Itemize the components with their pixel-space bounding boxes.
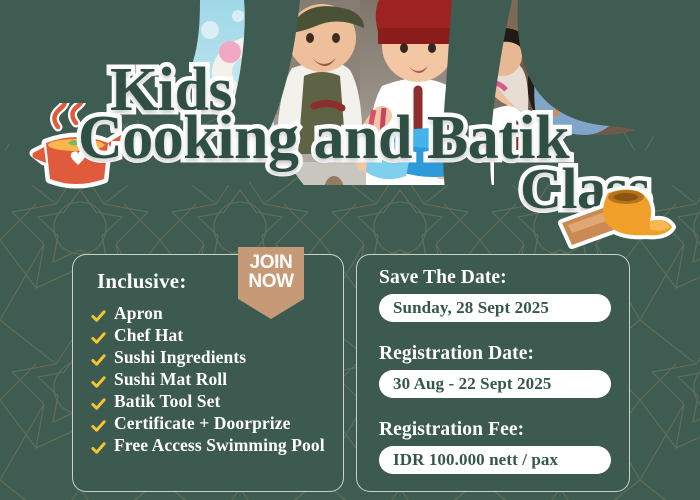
registration-date-block: Registration Date: 30 Aug - 22 Sept 2025 [379, 343, 611, 398]
list-item: Sushi Mat Roll [91, 369, 335, 390]
list-item-label: Apron [114, 303, 163, 324]
join-now-line-1: JOIN [250, 253, 293, 272]
check-icon [91, 353, 106, 368]
batik-photo [478, 0, 700, 135]
check-icon [91, 397, 106, 412]
poster-canvas: Kids Cooking and Batik Class Inclusive: [0, 0, 700, 500]
join-now-line-2: NOW [248, 272, 293, 291]
registration-fee-value: IDR 100.000 nett / pax [379, 446, 611, 474]
list-item-label: Free Access Swimming Pool [114, 435, 325, 456]
check-icon [91, 419, 106, 434]
list-item-label: Batik Tool Set [114, 391, 220, 412]
list-item-label: Sushi Ingredients [114, 347, 246, 368]
registration-fee-label: Registration Fee: [379, 419, 611, 441]
list-item-label: Chef Hat [114, 325, 183, 346]
registration-date-label: Registration Date: [379, 343, 611, 365]
check-icon [91, 441, 106, 456]
details-panel: Save The Date: Sunday, 28 Sept 2025 Regi… [356, 254, 630, 492]
list-item: Batik Tool Set [91, 391, 335, 412]
inclusive-list: Apron Chef Hat Sushi Ingredients Sushi M… [91, 303, 335, 457]
batik-canting-icon [558, 177, 676, 249]
list-item: Apron [91, 303, 335, 324]
photo-band [0, 0, 700, 185]
check-icon [91, 309, 106, 324]
check-icon [91, 375, 106, 390]
list-item: Certificate + Doorprize [91, 413, 335, 434]
list-item: Chef Hat [91, 325, 335, 346]
inclusive-title: Inclusive: [97, 269, 187, 294]
list-item: Sushi Ingredients [91, 347, 335, 368]
registration-fee-block: Registration Fee: IDR 100.000 nett / pax [379, 419, 611, 474]
list-item-label: Certificate + Doorprize [114, 413, 291, 434]
save-the-date-block: Save The Date: Sunday, 28 Sept 2025 [379, 267, 611, 322]
save-the-date-label: Save The Date: [379, 267, 611, 289]
list-item-label: Sushi Mat Roll [114, 369, 227, 390]
check-icon [91, 331, 106, 346]
list-item: Free Access Swimming Pool [91, 435, 335, 456]
save-the-date-value: Sunday, 28 Sept 2025 [379, 294, 611, 322]
registration-date-value: 30 Aug - 22 Sept 2025 [379, 370, 611, 398]
